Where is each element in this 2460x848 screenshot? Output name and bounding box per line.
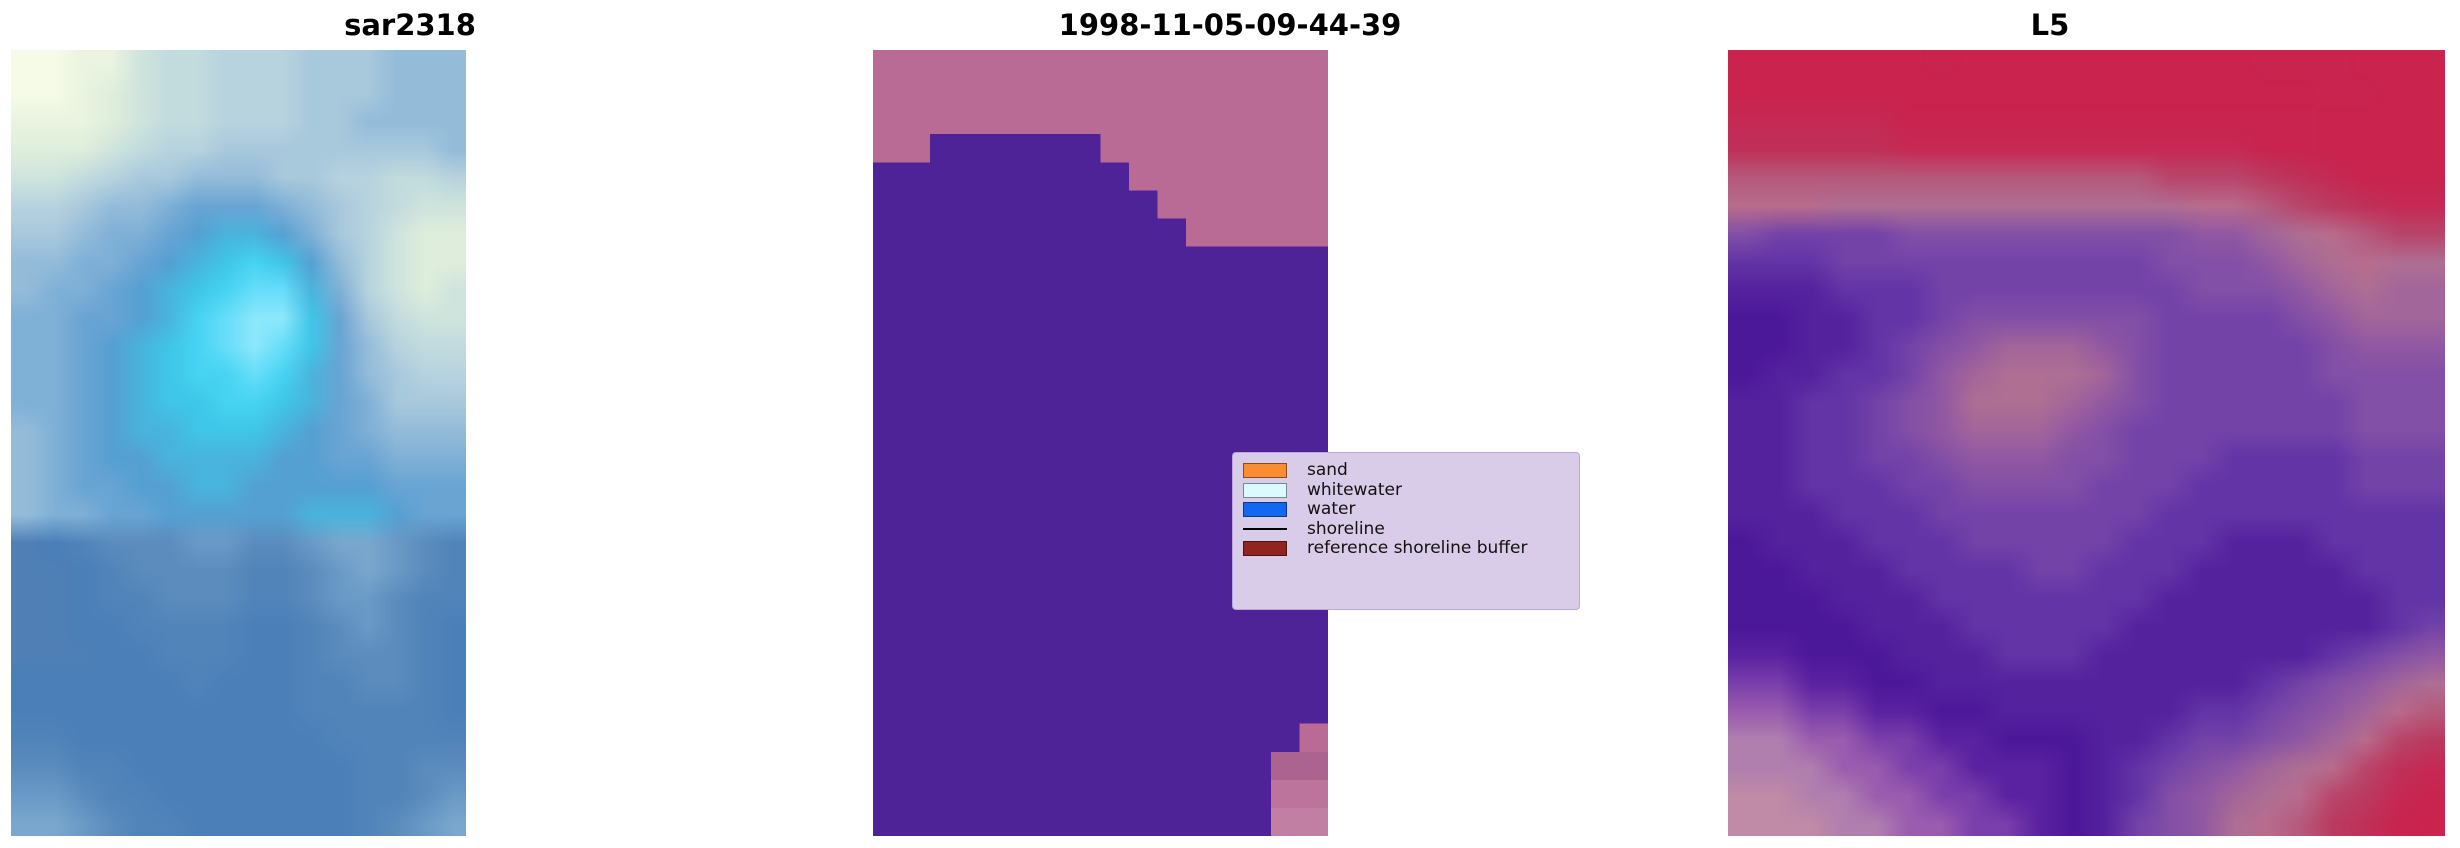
legend-label: reference shoreline buffer (1299, 539, 1528, 558)
legend-label: sand (1299, 461, 1348, 480)
legend-swatch-cell (1243, 483, 1299, 498)
legend-patch-icon-whitewater (1243, 483, 1287, 498)
legend[interactable]: sandwhitewaterwatershorelinereference sh… (1232, 452, 1580, 610)
panel-l5: L5 (1640, 0, 2460, 848)
legend-swatch-cell (1243, 528, 1299, 530)
legend-swatch-cell (1243, 502, 1299, 517)
legend-swatch-cell (1243, 541, 1299, 556)
figure-canvas: sar2318 1998-11-05-09-44-39 L5 sandwhite… (0, 0, 2460, 848)
legend-item-reference-shoreline-buffer[interactable]: reference shoreline buffer (1243, 539, 1569, 559)
panel-sar2318: sar2318 (0, 0, 820, 848)
legend-label: shoreline (1299, 520, 1385, 539)
legend-item-shoreline[interactable]: shoreline (1243, 520, 1569, 540)
legend-item-sand[interactable]: sand (1243, 461, 1569, 481)
panel-classified: 1998-11-05-09-44-39 (820, 0, 1640, 848)
legend-label: water (1299, 500, 1355, 519)
raster-canvas-sar2318 (11, 50, 466, 836)
legend-patch-icon-water (1243, 502, 1287, 517)
legend-line-icon-shoreline (1243, 528, 1287, 530)
panel-title-l5: L5 (1640, 5, 2460, 45)
raster-image-sar2318[interactable] (11, 50, 466, 836)
legend-patch-icon-sand (1243, 463, 1287, 478)
panel-title-sar2318: sar2318 (0, 5, 820, 45)
raster-canvas-1998-11-05-09-44-39 (873, 50, 1328, 836)
raster-image-l5[interactable] (1728, 50, 2445, 836)
legend-label: whitewater (1299, 481, 1402, 500)
legend-swatch-cell (1243, 463, 1299, 478)
legend-patch-icon-reference-shoreline-buffer (1243, 541, 1287, 556)
panel-title-classified: 1998-11-05-09-44-39 (820, 5, 1640, 45)
raster-image-classified[interactable] (873, 50, 1328, 836)
raster-canvas-L5 (1728, 50, 2445, 836)
legend-item-water[interactable]: water (1243, 500, 1569, 520)
legend-item-whitewater[interactable]: whitewater (1243, 481, 1569, 501)
